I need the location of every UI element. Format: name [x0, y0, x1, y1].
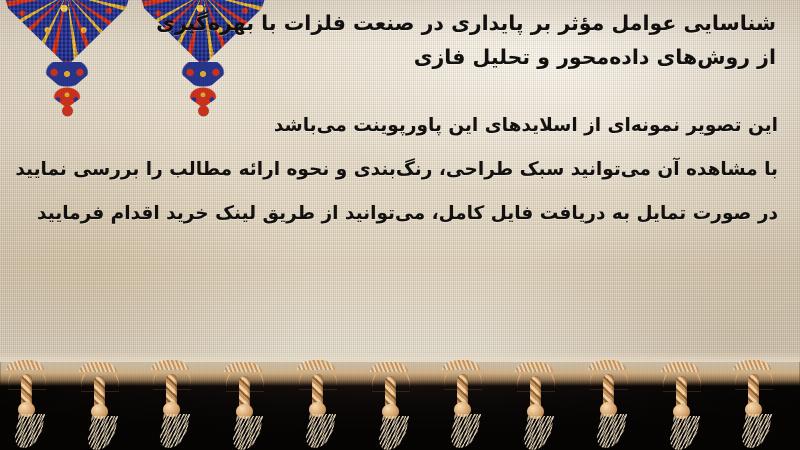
tassel-whisk-icon	[668, 416, 700, 450]
fringe-tassel	[297, 352, 339, 448]
fringe-tassel	[151, 352, 193, 448]
fringe-tassel	[442, 352, 484, 448]
fringe-tassel	[79, 354, 121, 450]
slide-title: شناسایی عوامل مؤثر بر پایداری در صنعت فل…	[208, 6, 776, 74]
fringe-tassel	[733, 352, 775, 448]
fringe-tassel	[515, 354, 557, 450]
body-line-2: با مشاهده آن می‌توانید سبک طراحی، رنگ‌بن…	[6, 148, 778, 192]
fringe-tassel	[661, 354, 703, 450]
tassel-whisk-icon	[449, 414, 481, 448]
fringe-tassel	[370, 354, 412, 450]
tassel-whisk-icon	[13, 414, 45, 448]
text-layer: شناسایی عوامل مؤثر بر پایداری در صنعت فل…	[0, 0, 800, 382]
tassel-whisk-icon	[522, 416, 554, 450]
slide-body: این تصویر نمونه‌ای از اسلایدهای این پاور…	[6, 104, 778, 236]
fringe-tassel	[6, 352, 48, 448]
body-line-1: این تصویر نمونه‌ای از اسلایدهای این پاور…	[6, 104, 778, 148]
tassel-whisk-icon	[158, 414, 190, 448]
title-line-1: شناسایی عوامل مؤثر بر پایداری در صنعت فل…	[208, 6, 776, 40]
fringe-tassel	[224, 354, 266, 450]
body-line-3: در صورت تمایل به دریافت فایل کامل، می‌تو…	[6, 192, 778, 236]
tassel-whisk-icon	[377, 416, 409, 450]
tassel-whisk-icon	[304, 414, 336, 448]
tassel-whisk-icon	[595, 414, 627, 448]
carpet-fringe	[0, 352, 800, 450]
fringe-tassel	[588, 352, 630, 448]
slide-canvas: شناسایی عوامل مؤثر بر پایداری در صنعت فل…	[0, 0, 800, 450]
tassel-whisk-icon	[86, 416, 118, 450]
tassel-whisk-icon	[740, 414, 772, 448]
tassel-whisk-icon	[231, 416, 263, 450]
title-line-2: از روش‌های داده‌محور و تحلیل فازی	[208, 40, 776, 74]
